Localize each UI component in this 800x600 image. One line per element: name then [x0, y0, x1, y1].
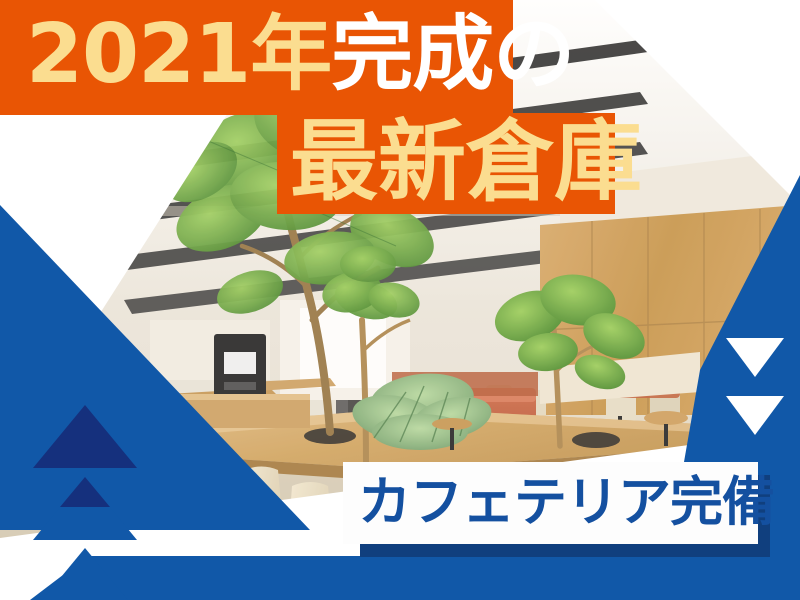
triangle-up-icon-2-overlap: [60, 477, 110, 507]
headline-kanji-kansei: 完成: [331, 7, 493, 102]
triangle-down-icon-1: [726, 338, 784, 377]
headline-line-1: 2021年完成の: [26, 14, 574, 96]
headline-year-suffix: 年: [250, 7, 331, 102]
headline-line-2: 最新倉庫: [290, 118, 642, 206]
callout-label: カフェテリア完備: [358, 473, 748, 533]
headline-particle-no: の: [493, 7, 574, 102]
triangle-up-icon-1: [33, 405, 137, 468]
triangle-down-icon-2: [726, 396, 784, 435]
headline-year: 2021: [26, 7, 250, 102]
triangle-up-icon-3: [33, 548, 137, 600]
promotional-banner: 2021年完成の 最新倉庫 カフェテリア完備: [0, 0, 800, 600]
